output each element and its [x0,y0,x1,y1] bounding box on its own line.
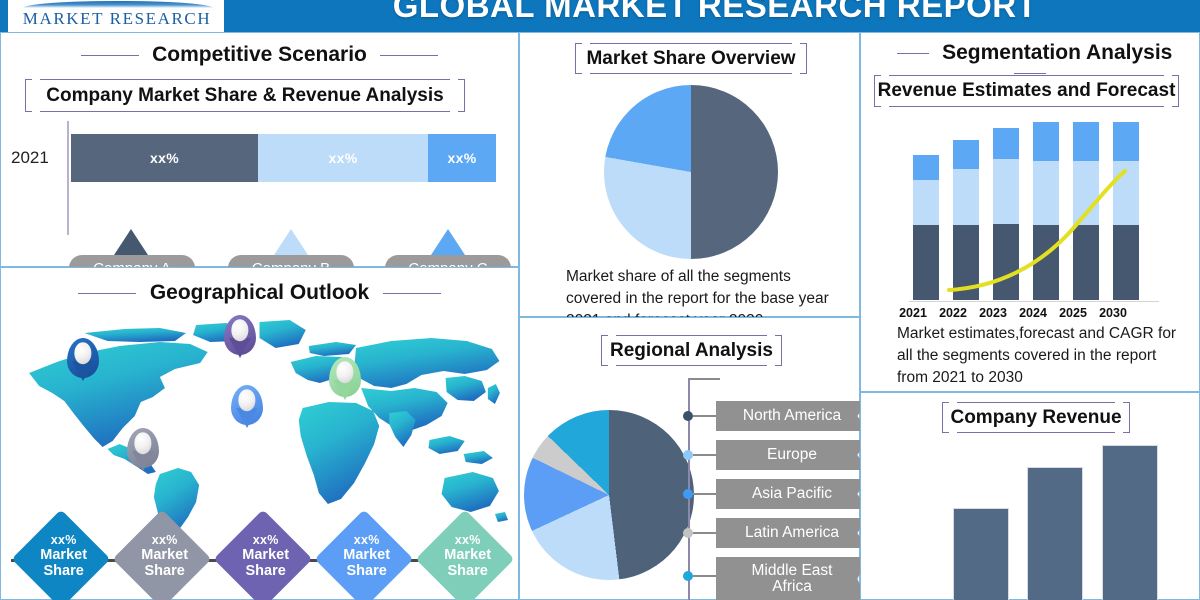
panel-regional-analysis: Regional Analysis North America Europe A… [519,317,860,600]
heading-rule-right [383,293,441,294]
bar-segment-company-a: xx% [71,134,258,182]
panel-market-share-overview: Market Share Overview Market share of al… [519,32,860,317]
xtick-2030: 2030 [1093,306,1133,320]
badge-pct: xx% [14,533,114,547]
regional-connector-2 [693,454,717,456]
regional-dot-europe [683,450,693,460]
regional-dot-north-america [683,411,693,421]
pin-europe[interactable] [224,315,256,355]
badge-label-2: Share [216,563,316,579]
xtick-2024: 2024 [1013,306,1053,320]
regional-connector-4 [693,532,717,534]
section-heading-competitive: Competitive Scenario [1,43,518,67]
segmentation-baseline [909,301,1159,302]
bar-segment-company-c: xx% [428,134,496,182]
xtick-2022: 2022 [933,306,973,320]
section-title-text: Segmentation Analysis [942,41,1172,65]
subtitle-market-share-overview: Market Share Overview [575,43,807,74]
pin-latin-america[interactable] [127,428,159,468]
badge-label-2: Share [14,563,114,579]
badge-pct: xx% [115,533,215,547]
xtick-2025: 2025 [1053,306,1093,320]
badge-label-2: Share [317,563,417,579]
company-revenue-bar-2 [1027,467,1083,600]
regional-ribbon-asia-pacific[interactable]: Asia Pacific [716,479,868,509]
logo-swoosh-icon [23,1,213,8]
badge-label-2: Share [115,563,215,579]
regional-connector-1 [693,415,717,417]
heading-rule-left [897,53,929,54]
pointer-company-a [114,229,148,255]
pointer-company-c [431,229,465,255]
section-heading-geographical: Geographical Outlook [1,281,518,305]
regional-connector-5 [693,575,717,577]
world-map [9,313,512,538]
badge-pct: xx% [317,533,417,547]
report-infographic: GLOBAL MARKET RESEARCH REPORT MARKET RES… [0,0,1200,600]
cagr-curve-icon [909,115,1159,300]
subtitle-company-market-share: Company Market Share & Revenue Analysis [25,79,465,112]
heading-rule-left [81,55,139,56]
regional-connector-3 [693,493,717,495]
regional-ribbon-latin-america[interactable]: Latin America [716,518,868,548]
regional-ribbon-middle-east-africa[interactable]: Middle East Africa [716,557,868,600]
panel-geographical-outlook: Geographical Outlook [0,267,519,600]
regional-ribbon-north-america[interactable]: North America [716,401,868,431]
segmentation-description: Market estimates,forecast and CAGR for a… [897,323,1187,389]
pointer-company-b [274,229,308,255]
regional-dot-asia-pacific [683,489,693,499]
stacked-share-bar: xx% xx% xx% [71,134,496,182]
badge-label-2: Share [418,563,518,579]
company-revenue-bar-3 [1102,445,1158,600]
xtick-2023: 2023 [973,306,1013,320]
pin-asia-pacific[interactable] [329,357,361,397]
heading-rule-left [78,293,136,294]
chart-axis-vertical [67,121,69,235]
badge-pct: xx% [418,533,518,547]
badge-pct: xx% [216,533,316,547]
badge-label-1: Market [115,547,215,563]
page-title: GLOBAL MARKET RESEARCH REPORT [230,0,1200,26]
subtitle-regional-analysis: Regional Analysis [601,335,782,366]
bar-year-label: 2021 [11,148,49,168]
market-share-overview-pie [604,85,778,259]
panel-competitive-scenario: Competitive Scenario Company Market Shar… [0,32,519,267]
regional-spine-top [688,378,720,380]
brand-logo: MARKET RESEARCH [8,0,224,32]
subtitle-revenue-estimates: Revenue Estimates and Forecast [874,75,1179,107]
badge-label-1: Market [216,547,316,563]
panel-company-revenue: Company Revenue [860,392,1200,600]
xtick-2021: 2021 [893,306,933,320]
pin-middle-east-africa[interactable] [231,385,263,425]
regional-ribbon-label: Middle East Africa [732,563,852,596]
badge-label-1: Market [14,547,114,563]
company-revenue-bar-1 [953,508,1009,600]
bar-segment-company-b: xx% [258,134,428,182]
regional-dot-latin-america [683,528,693,538]
regional-dot-middle-east-africa [683,571,693,581]
panel-segmentation-analysis: Segmentation Analysis Revenue Estimates … [860,32,1200,392]
regional-analysis-pie [524,410,694,580]
section-title-text: Geographical Outlook [150,281,369,305]
pin-north-america[interactable] [67,338,99,378]
heading-rule-right [380,55,438,56]
section-title-text: Competitive Scenario [152,43,367,67]
segmentation-revenue-bar [909,115,1159,300]
logo-text: MARKET RESEARCH [9,9,224,29]
subtitle-company-revenue: Company Revenue [942,402,1130,433]
regional-ribbon-europe[interactable]: Europe [716,440,868,470]
badge-label-1: Market [317,547,417,563]
badge-label-1: Market [418,547,518,563]
